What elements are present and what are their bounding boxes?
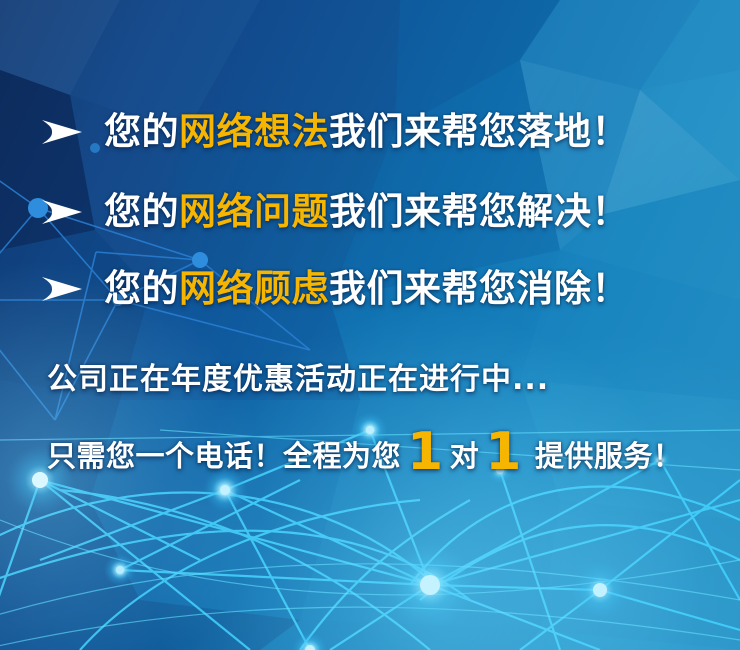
banner-content: 您的网络想法我们来帮您落地！ 您的网络问题我们来帮您解决！ 您的网络顾虑我们来帮…: [0, 0, 740, 650]
headline-3-highlight: 网络顾虑: [179, 267, 329, 310]
subtitle-line-2: 只需您一个电话！全程为您 1 对 1 提供服务！: [47, 426, 682, 479]
headline-3: 您的网络顾虑我们来帮您消除！: [104, 265, 629, 313]
headline-2-suffix: 我们来帮您解决！: [329, 190, 629, 233]
headline-1-prefix: 您的: [104, 110, 179, 153]
headline-2-highlight: 网络问题: [179, 190, 329, 233]
service-number-second: 1: [479, 429, 528, 475]
arrow-right-icon: [38, 197, 84, 227]
bullet-row-3: 您的网络顾虑我们来帮您消除！: [38, 265, 629, 313]
headline-3-prefix: 您的: [104, 267, 179, 310]
subtitle-line-2-part2: 提供服务！: [535, 433, 683, 479]
bullet-row-1: 您的网络想法我们来帮您落地！: [38, 108, 629, 156]
subtitle-line-2-part1: 只需您一个电话！全程为您: [47, 433, 401, 479]
subtitle-line-1: 公司正在年度优惠活动正在进行中...: [47, 360, 549, 400]
headline-3-suffix: 我们来帮您消除！: [329, 267, 629, 310]
headline-1: 您的网络想法我们来帮您落地！: [104, 108, 629, 156]
promo-banner: 您的网络想法我们来帮您落地！ 您的网络问题我们来帮您解决！ 您的网络顾虑我们来帮…: [0, 0, 740, 650]
headline-1-highlight: 网络想法: [179, 110, 329, 153]
arrow-right-icon: [38, 274, 84, 304]
headline-2-prefix: 您的: [104, 190, 179, 233]
arrow-right-icon: [38, 117, 84, 147]
headline-1-suffix: 我们来帮您落地！: [329, 110, 629, 153]
headline-2: 您的网络问题我们来帮您解决！: [104, 188, 629, 236]
bullet-row-2: 您的网络问题我们来帮您解决！: [38, 188, 629, 236]
service-number-first: 1: [401, 429, 450, 475]
subtitle-line-2-middle: 对: [450, 433, 480, 479]
